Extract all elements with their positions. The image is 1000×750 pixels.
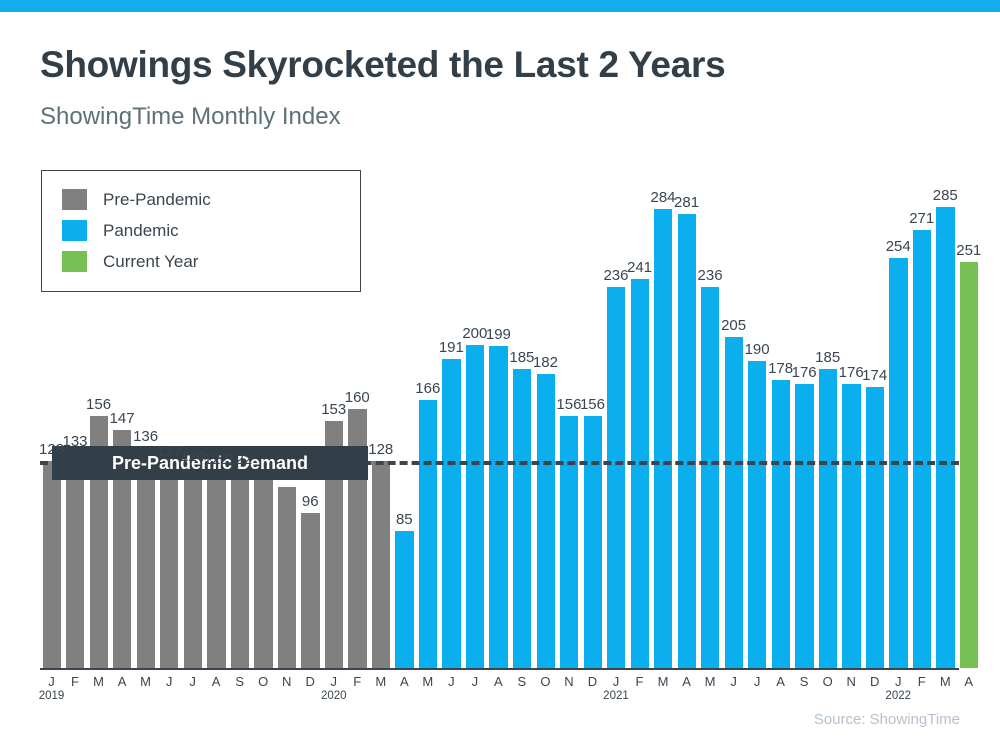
bar-column[interactable] [275,160,299,668]
source-attribution: Source: ShowingTime [814,711,960,728]
x-tick-label: M [698,674,722,689]
bar-value-label: 147 [102,410,142,427]
bar-value-label: 122 [220,451,260,468]
bar-value-label: 182 [525,354,565,371]
bar-value-label: 156 [572,396,612,413]
bar-column[interactable] [510,160,534,668]
x-tick-label: D [580,674,604,689]
bar[interactable] [395,531,413,668]
x-axis-year-label: 2020 [314,690,354,702]
bar-value-label: 166 [408,380,448,397]
bar[interactable] [466,345,484,668]
bar[interactable] [513,369,531,668]
bar-value-label: 285 [925,187,965,204]
bar-column[interactable] [840,160,864,668]
x-tick-label: J [886,674,910,689]
bar-value-label: 241 [620,259,660,276]
bar-column[interactable] [228,160,252,668]
bar-value-label: 236 [690,267,730,284]
bar[interactable] [795,384,813,668]
bar-column[interactable] [557,160,581,668]
bar[interactable] [748,361,766,668]
bar-column[interactable] [957,160,981,668]
x-tick-label: S [510,674,534,689]
bar-column[interactable] [369,160,393,668]
x-tick-label: A [204,674,228,689]
x-tick-label: J [40,674,64,689]
bar-column[interactable] [581,160,605,668]
bar[interactable] [725,337,743,668]
bar-column[interactable] [910,160,934,668]
bar[interactable] [419,400,437,668]
x-tick-label: M [651,674,675,689]
bar-value-label: 174 [855,367,895,384]
x-tick-label: M [134,674,158,689]
bar-column[interactable] [816,160,840,668]
bar[interactable] [231,471,249,668]
bar[interactable] [537,374,555,668]
bar-column[interactable] [252,160,276,668]
x-tick-label: N [557,674,581,689]
bar-value-label: 254 [878,238,918,255]
bar-column[interactable] [487,160,511,668]
bar-column[interactable] [793,160,817,668]
page-subtitle: ShowingTime Monthly Index [40,103,341,131]
bar[interactable] [960,262,978,668]
bar-column[interactable] [181,160,205,668]
bar[interactable] [184,468,202,668]
bar-column[interactable] [440,160,464,668]
x-tick-label: J [745,674,769,689]
x-tick-label: A [675,674,699,689]
bar-value-label: 191 [431,339,471,356]
x-tick-label: J [181,674,205,689]
bar[interactable] [160,463,178,668]
bar[interactable] [842,384,860,668]
page-title: Showings Skyrocketed the Last 2 Years [40,44,725,86]
bar-column[interactable] [887,160,911,668]
bar-column[interactable] [158,160,182,668]
bar[interactable] [584,416,602,668]
bar[interactable] [66,453,84,668]
x-tick-label: M [369,674,393,689]
bar-column[interactable] [746,160,770,668]
x-axis-baseline [40,668,959,670]
bar[interactable] [607,287,625,668]
x-axis-year-label: 2021 [596,690,636,702]
bar-column[interactable] [652,160,676,668]
bar-value-label: 281 [667,194,707,211]
x-tick-label: S [792,674,816,689]
bar[interactable] [631,279,649,668]
bar[interactable] [866,387,884,668]
bar-column[interactable] [628,160,652,668]
bar-column[interactable] [463,160,487,668]
x-axis-year-label: 2022 [878,690,918,702]
x-tick-label: S [228,674,252,689]
bar-column[interactable] [604,160,628,668]
bar[interactable] [372,461,390,668]
bar-column[interactable] [769,160,793,668]
x-tick-label: N [839,674,863,689]
bar[interactable] [819,369,837,668]
x-tick-label: A [486,674,510,689]
bar[interactable] [560,416,578,668]
bar-column[interactable] [934,160,958,668]
bar[interactable] [772,380,790,668]
bar[interactable] [207,471,225,668]
bar-column[interactable] [722,160,746,668]
bar[interactable] [254,477,272,668]
bar-value-label: 205 [714,317,754,334]
x-tick-label: O [251,674,275,689]
bar[interactable] [654,209,672,668]
bar[interactable] [936,207,954,668]
bar[interactable] [43,461,61,668]
bar-chart-plot-area [40,160,960,668]
bar-value-label: 133 [55,433,95,450]
bar[interactable] [701,287,719,668]
bar-column[interactable] [64,160,88,668]
bar-column[interactable] [675,160,699,668]
bar-value-label: 190 [737,341,777,358]
bar[interactable] [913,230,931,668]
bar-column[interactable] [416,160,440,668]
bar-value-label: 85 [384,511,424,528]
x-tick-label: O [533,674,557,689]
x-tick-label: F [910,674,934,689]
x-tick-label: M [87,674,111,689]
x-tick-label: A [110,674,134,689]
bar-column[interactable] [205,160,229,668]
x-tick-label: F [345,674,369,689]
x-tick-label: J [322,674,346,689]
x-tick-label: J [439,674,463,689]
bar-value-label: 199 [478,326,518,343]
bar[interactable] [278,487,296,668]
bar-column[interactable] [863,160,887,668]
x-tick-label: M [416,674,440,689]
top-accent-bar [0,0,1000,12]
x-tick-label: A [957,674,981,689]
x-tick-label: J [722,674,746,689]
bar-value-label: 96 [290,493,330,510]
bar-column[interactable] [534,160,558,668]
bar-column[interactable] [393,160,417,668]
x-tick-label: M [933,674,957,689]
x-tick-label: A [392,674,416,689]
bar[interactable] [489,346,507,668]
bar-value-label: 251 [949,242,989,259]
x-axis-year-label: 2019 [32,690,72,702]
bar-value-label: 160 [337,389,377,406]
bar-value-label: 128 [361,441,401,458]
bar-column[interactable] [699,160,723,668]
bar-value-label: 176 [784,364,824,381]
bar[interactable] [137,448,155,668]
x-tick-label: O [816,674,840,689]
x-tick-label: F [63,674,87,689]
x-tick-label: N [275,674,299,689]
x-tick-label: D [298,674,322,689]
x-tick-label: A [769,674,793,689]
bar-column[interactable] [40,160,64,668]
x-tick-label: J [157,674,181,689]
bar[interactable] [442,359,460,668]
x-tick-label: J [604,674,628,689]
bar-value-label: 271 [902,210,942,227]
x-tick-label: D [863,674,887,689]
x-tick-label: J [463,674,487,689]
x-tick-label: F [628,674,652,689]
bar[interactable] [301,513,319,668]
